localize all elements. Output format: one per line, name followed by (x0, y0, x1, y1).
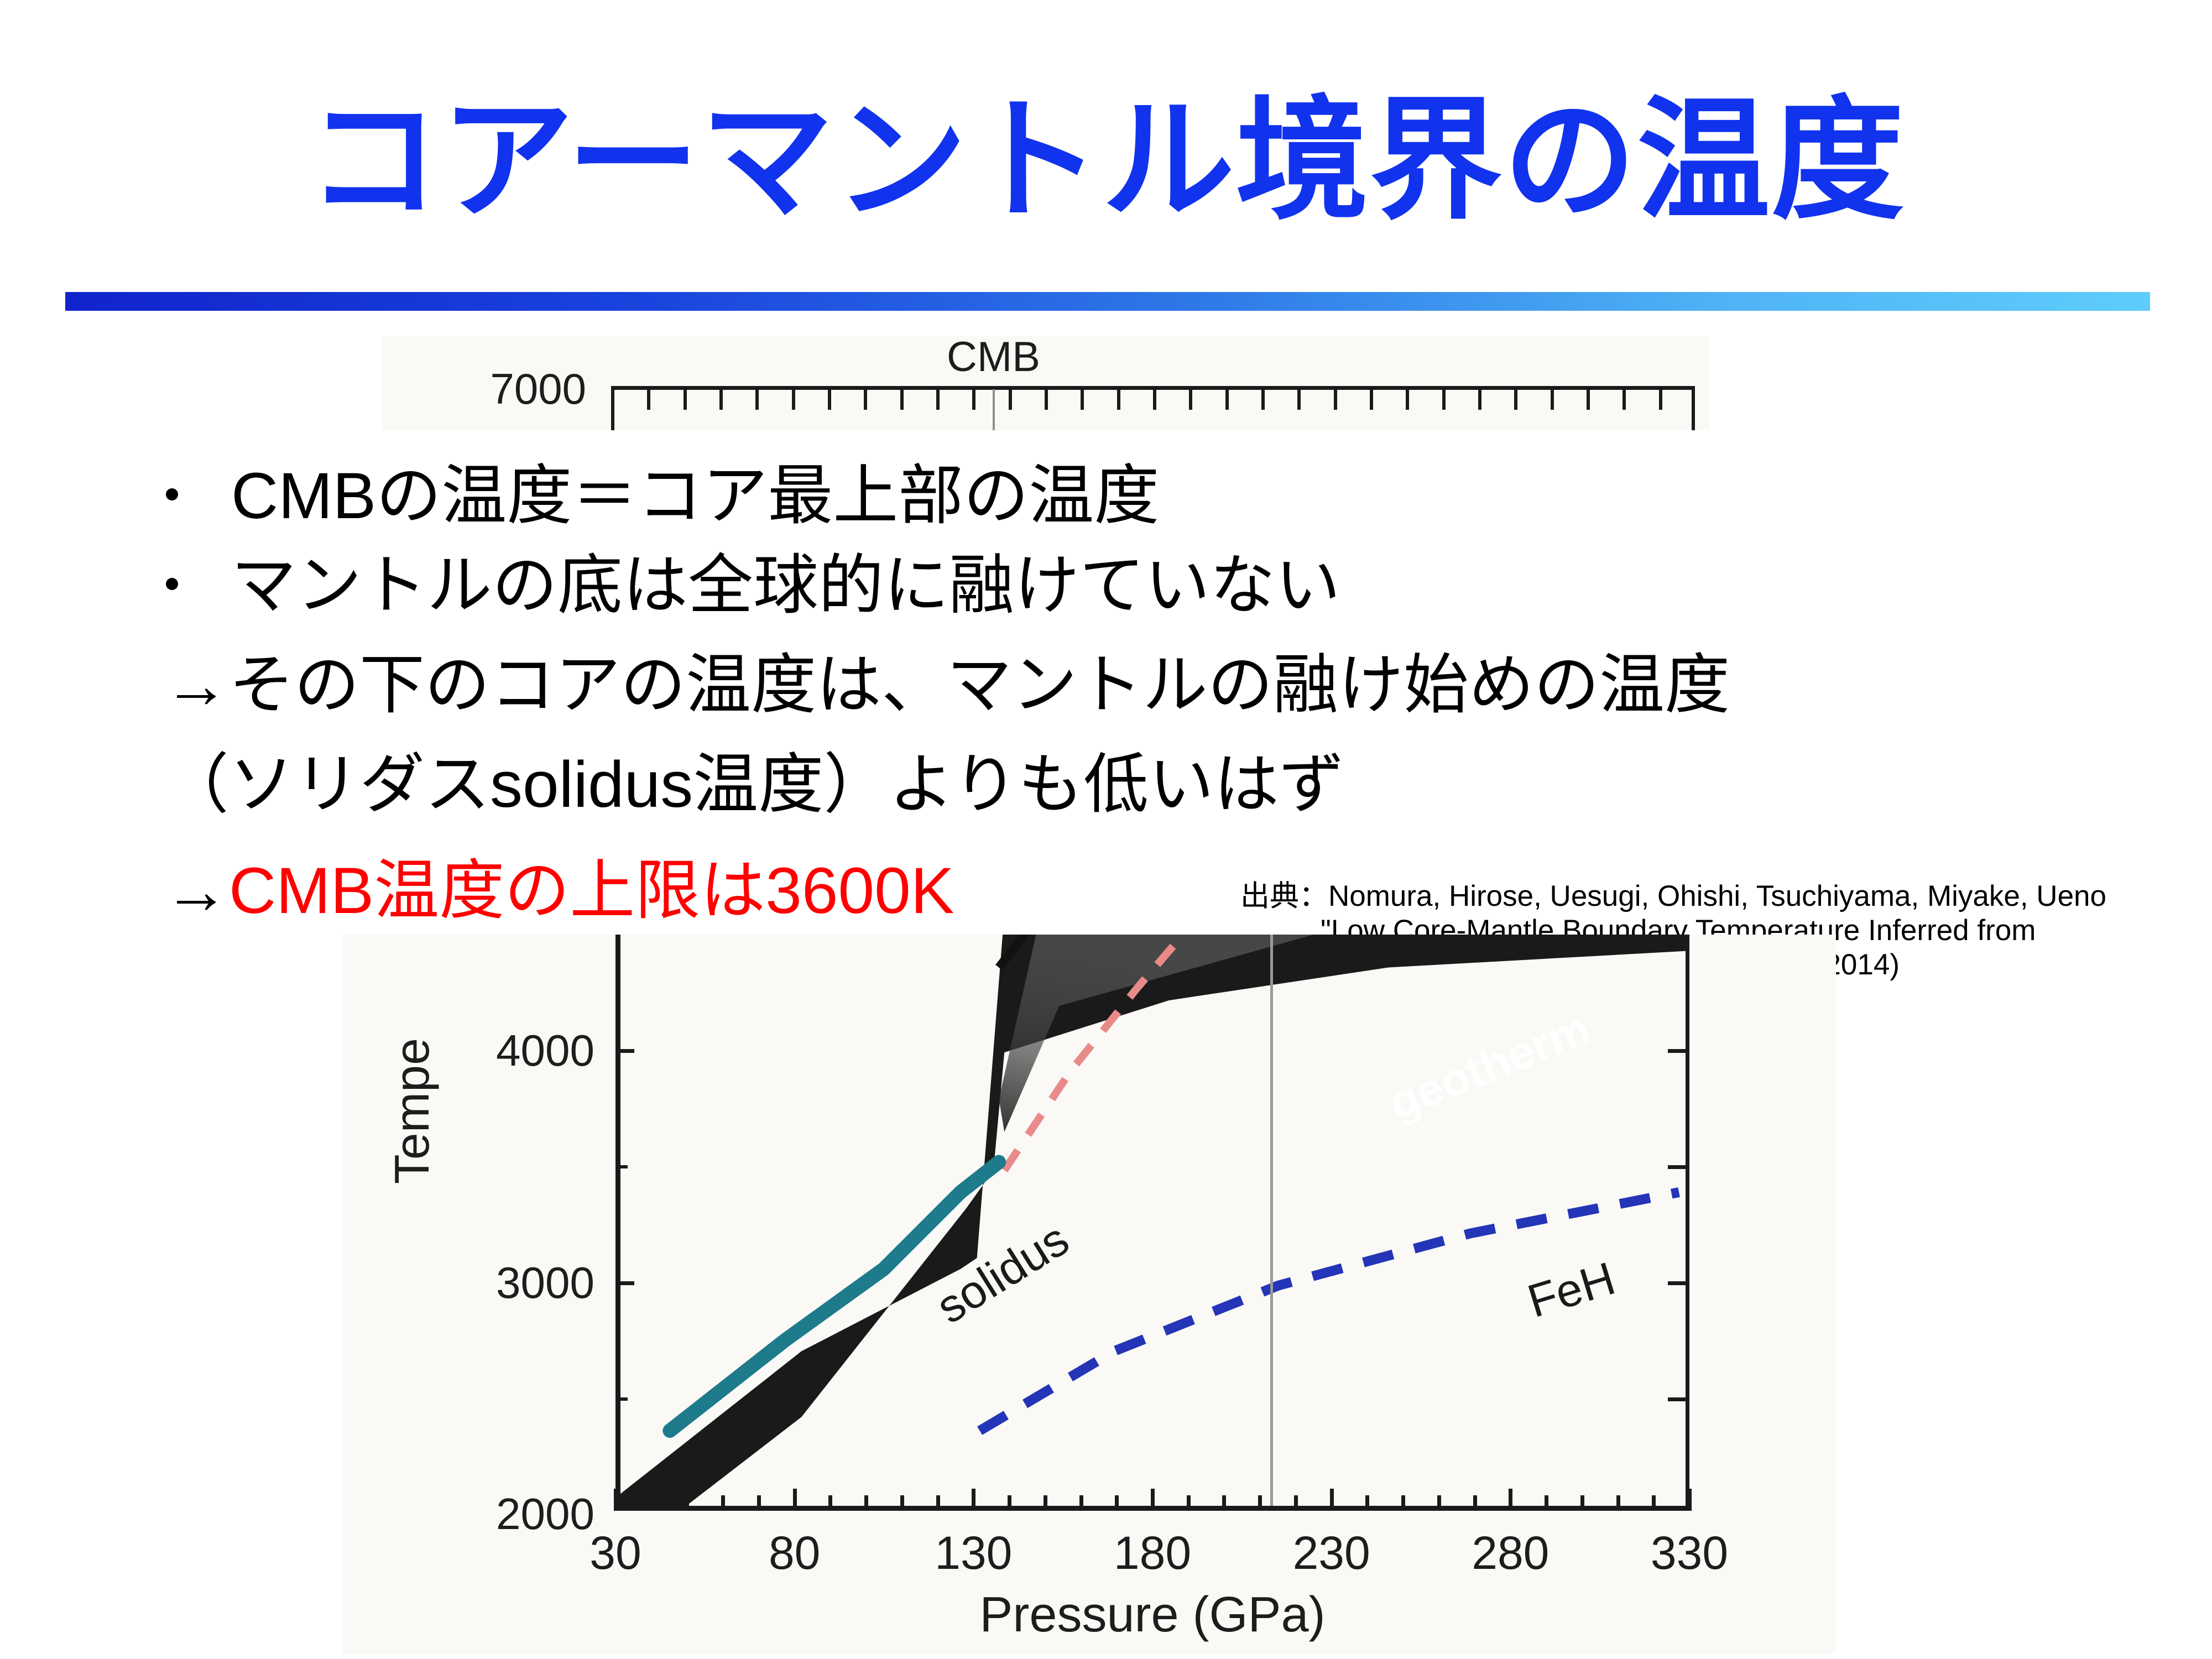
chart-cmb-vertical-line (1270, 935, 1273, 1506)
chart-x-axis-title: Pressure (GPa) (615, 1590, 1689, 1640)
top-fragment-tick (1659, 390, 1662, 410)
top-fragment-tick (792, 390, 795, 410)
top-fragment-ytick-label: 7000 (382, 367, 586, 410)
bullet-item-1: CMBの温度＝コア最上部の温度 (166, 463, 1159, 529)
top-fragment-tick-row (611, 390, 1695, 412)
chart-curves (620, 935, 1686, 1506)
chart-plot-area: solidus geotherm_upper geotherm FeH (615, 935, 1689, 1511)
top-fragment-tick (864, 390, 867, 410)
top-fragment-tick (1081, 390, 1084, 410)
chart-x-tick (1545, 1495, 1548, 1511)
body-line-3: →その下のコアの温度は、マントルの融け始めの温度 (164, 653, 1730, 718)
main-chart: Tempe 4000 3000 2000 (343, 935, 1836, 1653)
top-fragment-tick (972, 390, 975, 410)
top-fragment-tick (1587, 390, 1590, 410)
chart-x-tick (1365, 1495, 1369, 1511)
top-fragment-tick (1189, 390, 1192, 410)
top-fragment-tick (828, 390, 831, 410)
arrow-icon: → (164, 854, 229, 927)
bullet-item-2: マントルの底は全球的に融けていない (166, 553, 1340, 618)
chart-y-axis-title: Tempe (388, 945, 436, 1277)
title-divider (65, 292, 2150, 311)
chart-x-tick (1473, 1495, 1477, 1511)
chart-x-tick (650, 1495, 654, 1511)
page-title: コアーマントル境界の温度 (0, 94, 2212, 227)
top-fragment-tick (1334, 390, 1337, 410)
chart-x-tick (1044, 1495, 1047, 1511)
top-fragment-cmb-label: CMB (947, 336, 1040, 378)
chart-x-tick (1115, 1495, 1119, 1511)
top-fragment-tick (1261, 390, 1265, 410)
chart-x-tick (1151, 1489, 1155, 1511)
top-fragment-tick (719, 390, 723, 410)
chart-x-tick-label: 130 (901, 1530, 1045, 1576)
top-fragment-tick (1623, 390, 1626, 410)
citation-line-1: 出典：Nomura, Hirose, Uesugi, Ohishi, Tsuch… (1240, 880, 2106, 912)
chart-x-tick-label: 80 (723, 1530, 867, 1576)
chart-x-tick-label: 30 (544, 1530, 687, 1576)
top-fragment-tick (684, 390, 687, 410)
chart-x-tick (793, 1489, 797, 1511)
conclusion-line: →CMB温度の上限は3600K (164, 858, 954, 924)
top-fragment-tick (936, 390, 940, 410)
top-fragment-tick (1514, 390, 1517, 410)
chart-x-tick (1008, 1495, 1011, 1511)
chart-x-tick (864, 1495, 868, 1511)
top-fragment-tick (1117, 390, 1120, 410)
top-fragment-tick (1406, 390, 1409, 410)
chart-x-tick (757, 1495, 761, 1511)
body-line-4: （ソリダスsolidus温度）よりも低いはず (164, 752, 1344, 817)
top-fragment-tick (1045, 390, 1048, 410)
chart-x-tick (1079, 1495, 1083, 1511)
chart-x-tick (721, 1495, 725, 1511)
chart-x-tick-label: 180 (1081, 1530, 1224, 1576)
chart-x-tick (1258, 1495, 1262, 1511)
chart-x-tick (1580, 1495, 1584, 1511)
chart-x-tick (1401, 1495, 1405, 1511)
top-fragment-tick (1297, 390, 1301, 410)
conclusion-text: CMB温度の上限は3600K (229, 854, 954, 927)
top-chart-fragment: 7000 CMB (382, 336, 1709, 430)
bullet-2-label: マントルの底は全球的に融けていない (231, 549, 1340, 622)
chart-x-tick (1222, 1495, 1226, 1511)
top-fragment-tick (1370, 390, 1373, 410)
chart-ytick-label-3000: 3000 (429, 1261, 594, 1305)
chart-x-tick (1330, 1489, 1334, 1511)
chart-x-tick (936, 1495, 940, 1511)
top-fragment-tick (900, 390, 904, 410)
top-fragment-tick (647, 390, 650, 410)
chart-x-tick (1294, 1495, 1298, 1511)
chart-x-tick-label: 330 (1618, 1530, 1761, 1576)
chart-x-tick (1509, 1489, 1512, 1511)
top-fragment-cmb-line (993, 389, 995, 430)
chart-x-tick (1688, 1489, 1692, 1511)
top-fragment-tick (1009, 390, 1012, 410)
chart-x-tick (1437, 1495, 1441, 1511)
chart-x-tick (1652, 1495, 1656, 1511)
top-fragment-tick (1478, 390, 1481, 410)
chart-ytick-label-4000: 4000 (429, 1029, 594, 1073)
chart-x-tick (828, 1495, 832, 1511)
chart-x-tick (900, 1495, 904, 1511)
bullet-marker-icon (166, 578, 178, 590)
top-fragment-tick (755, 390, 759, 410)
top-fragment-tick (1551, 390, 1554, 410)
bullet-marker-icon (166, 488, 178, 500)
chart-x-tick-label: 230 (1260, 1530, 1404, 1576)
chart-x-tick (1187, 1495, 1191, 1511)
top-fragment-tick (1225, 390, 1229, 410)
chart-x-tick (614, 1489, 618, 1511)
bullet-1-label: CMBの温度＝コア最上部の温度 (231, 460, 1159, 533)
top-fragment-tick (1153, 390, 1156, 410)
top-fragment-tick (1442, 390, 1446, 410)
chart-x-tick (1616, 1495, 1620, 1511)
chart-x-tick-label: 280 (1438, 1530, 1582, 1576)
chart-x-tick (972, 1489, 975, 1511)
chart-x-tick (685, 1495, 689, 1511)
